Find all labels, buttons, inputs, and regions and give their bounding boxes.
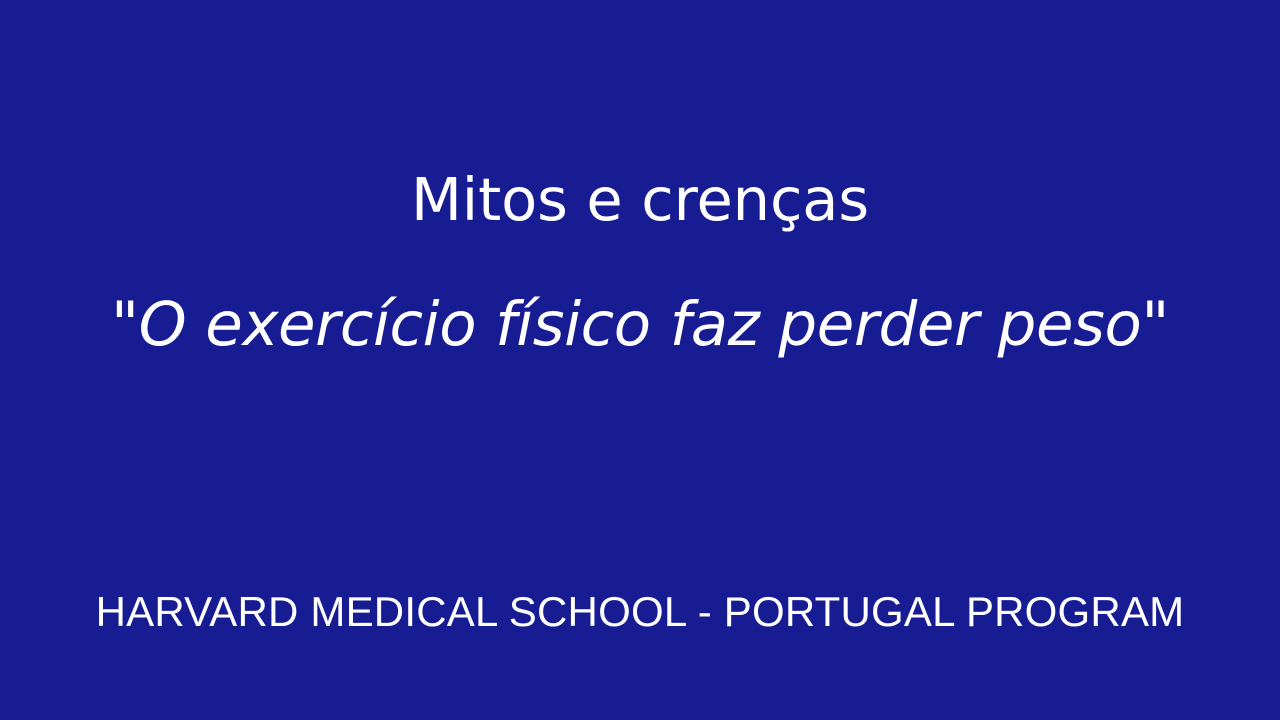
presentation-slide: Mitos e crenças "O exercício físico faz …: [0, 0, 1280, 720]
slide-heading-block: Mitos e crenças "O exercício físico faz …: [0, 168, 1280, 358]
slide-footer: HARVARD MEDICAL SCHOOL - PORTUGAL PROGRA…: [0, 588, 1280, 636]
slide-title: Mitos e crenças: [0, 168, 1280, 233]
slide-subtitle-quote: "O exercício físico faz perder peso": [0, 291, 1280, 358]
program-attribution-text: HARVARD MEDICAL SCHOOL - PORTUGAL PROGRA…: [0, 588, 1280, 636]
